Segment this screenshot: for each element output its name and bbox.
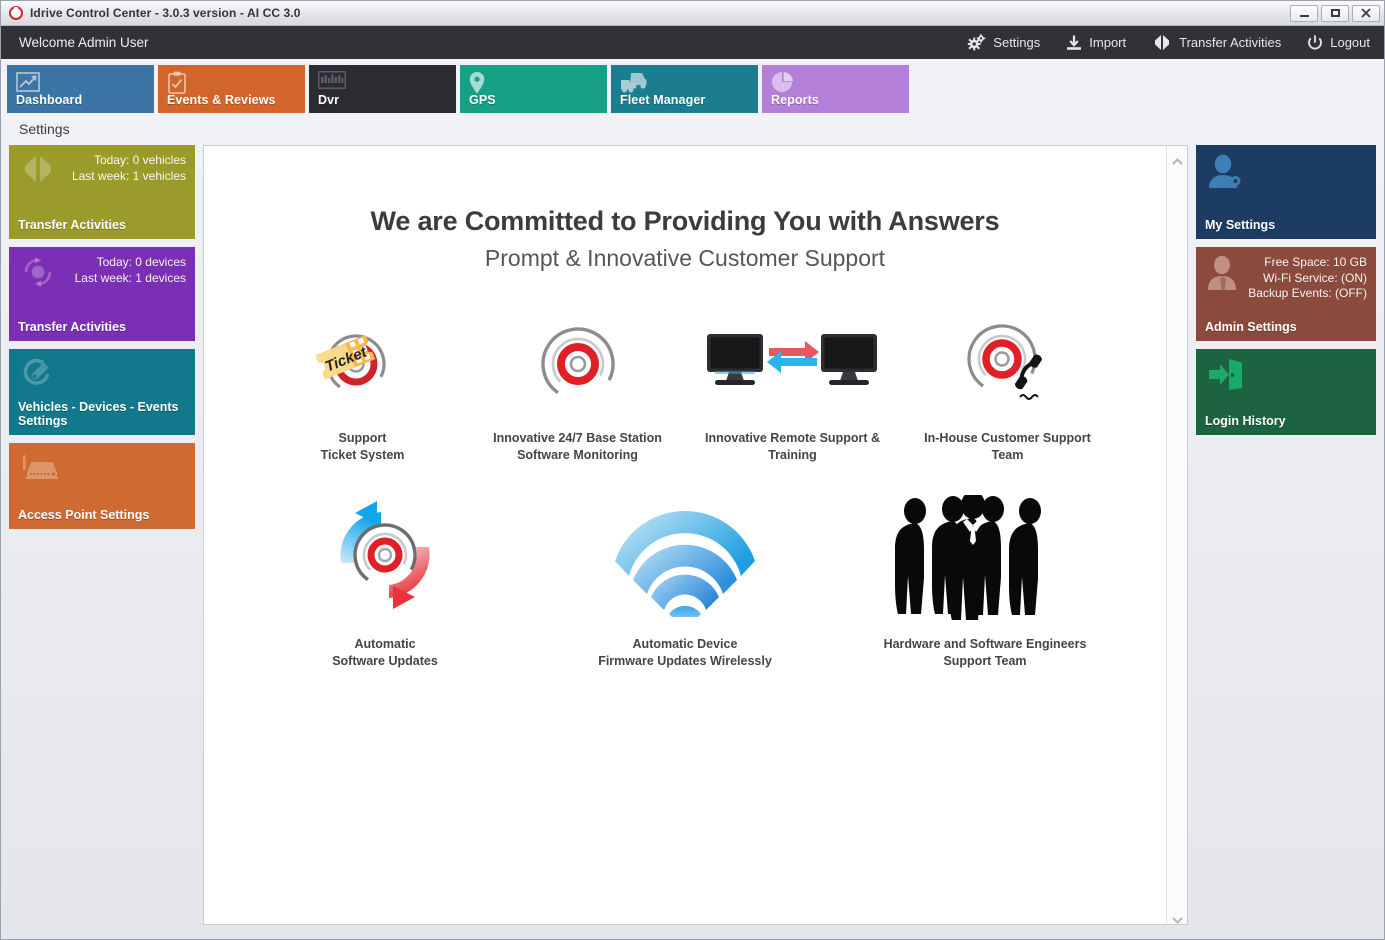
gears-icon [967,34,986,51]
tile-admin-settings[interactable]: Free Space: 10 GB Wi-Fi Service: (ON) Ba… [1196,247,1376,341]
power-icon [1307,35,1323,51]
tile-label: My Settings [1205,218,1370,232]
device-sync-icon [19,255,57,294]
feature-label: Support Ticket System [321,430,405,464]
chevron-down-icon[interactable] [1172,911,1183,918]
minimize-button[interactable] [1290,5,1318,22]
tab-dashboard-label: Dashboard [16,93,82,107]
features-row-1: Ticket Support Ticket System [204,312,1166,464]
vertical-scrollbar[interactable] [1166,146,1187,924]
feature-label: In-House Customer Support Team [924,430,1091,464]
phone-support-icon [958,312,1058,416]
remote-support-monitors-icon [703,312,883,416]
tab-events-reviews[interactable]: Events & Reviews [158,65,305,113]
import-action-label: Import [1089,35,1126,50]
tab-gps-label: GPS [469,93,496,107]
body: Today: 0 vehicles Last week: 1 vehicles … [1,145,1384,939]
tile-login-history[interactable]: Login History [1196,349,1376,435]
tab-reports[interactable]: Reports [762,65,909,113]
dvr-icon [318,76,346,93]
transfer-arrows-icon [19,153,57,190]
tile-label: Transfer Activities [18,320,189,334]
tile-label: Admin Settings [1205,320,1370,334]
tab-fleet-manager[interactable]: Fleet Manager [611,65,758,113]
app-logo-icon [9,6,23,20]
content-panel: We are Committed to Providing You with A… [203,145,1188,925]
logout-action[interactable]: Logout [1307,35,1370,51]
window-title: Idrive Control Center - 3.0.3 version - … [30,6,301,20]
content-area: We are Committed to Providing You with A… [204,146,1166,924]
title-bar: Idrive Control Center - 3.0.3 version - … [1,1,1384,26]
page-headline: We are Committed to Providing You with A… [204,206,1166,237]
support-ticket-icon: Ticket [310,312,415,416]
transfer-icon [1152,34,1172,51]
close-button[interactable] [1352,5,1380,22]
feature-automatic-software-updates: Automatic Software Updates [235,492,535,670]
tile-access-point-settings[interactable]: Access Point Settings [9,443,195,529]
features-row-2: Automatic Software Updates [204,492,1166,670]
feature-label: Innovative 24/7 Base Station Software Mo… [493,430,662,464]
breadcrumb: Settings [1,113,1384,145]
tile-label: Access Point Settings [18,508,189,522]
transfer-activities-action-label: Transfer Activities [1179,35,1281,50]
feature-support-ticket-system: Ticket Support Ticket System [255,312,470,464]
right-sidebar: My Settings Free Space: 10 GB Wi-Fi Serv… [1196,145,1376,925]
welcome-text: Welcome Admin User [19,35,149,50]
tab-fleet-manager-label: Fleet Manager [620,93,705,107]
feature-base-station-monitoring: Innovative 24/7 Base Station Software Mo… [470,312,685,464]
tile-transfer-activities-devices[interactable]: Today: 0 devices Last week: 1 devices Tr… [9,247,195,341]
chevron-up-icon[interactable] [1172,152,1183,159]
feature-label: Automatic Device Firmware Updates Wirele… [598,636,772,670]
main-tabs: Dashboard Events & Reviews [1,59,1384,113]
feature-inhouse-customer-support: In-House Customer Support Team [900,312,1115,464]
tab-dvr[interactable]: Dvr [309,65,456,113]
tab-events-reviews-label: Events & Reviews [167,93,276,107]
base-station-monitor-icon [532,312,624,416]
import-action[interactable]: Import [1066,35,1126,51]
wrench-icon [19,357,57,396]
maximize-button[interactable] [1321,5,1349,22]
wifi-signal-icon [605,492,765,622]
login-door-icon [1206,357,1246,396]
feature-label: Innovative Remote Support & Training [705,430,880,464]
settings-action[interactable]: Settings [967,34,1040,51]
router-icon [19,451,63,490]
left-sidebar: Today: 0 vehicles Last week: 1 vehicles … [9,145,195,925]
tab-dvr-label: Dvr [318,93,339,107]
tile-my-settings[interactable]: My Settings [1196,145,1376,239]
team-silhouette-icon [885,492,1085,622]
tab-dashboard[interactable]: Dashboard [7,65,154,113]
features-grid: Ticket Support Ticket System [204,312,1166,670]
app-window: Idrive Control Center - 3.0.3 version - … [0,0,1385,940]
tile-label: Vehicles - Devices - Events Settings [18,400,189,428]
feature-label: Automatic Software Updates [332,636,438,670]
feature-engineers-support-team: Hardware and Software Engineers Support … [835,492,1135,670]
software-update-icon [295,492,475,622]
feature-label: Hardware and Software Engineers Support … [884,636,1087,670]
tab-gps[interactable]: GPS [460,65,607,113]
window-controls [1290,5,1380,22]
top-actions: Settings Import Transf [967,34,1370,51]
transfer-activities-action[interactable]: Transfer Activities [1152,34,1281,51]
breadcrumb-label: Settings [19,121,70,137]
tile-label: Login History [1205,414,1370,428]
admin-user-icon [1206,255,1244,296]
logout-action-label: Logout [1330,35,1370,50]
tile-transfer-activities-vehicles[interactable]: Today: 0 vehicles Last week: 1 vehicles … [9,145,195,239]
tile-label: Transfer Activities [18,218,189,232]
page-subheadline: Prompt & Innovative Customer Support [204,245,1166,272]
feature-remote-support-training: Innovative Remote Support & Training [685,312,900,464]
settings-action-label: Settings [993,35,1040,50]
feature-device-firmware-updates: Automatic Device Firmware Updates Wirele… [535,492,835,670]
tile-vehicles-devices-events-settings[interactable]: Vehicles - Devices - Events Settings [9,349,195,435]
tab-reports-label: Reports [771,93,819,107]
user-settings-icon [1206,153,1246,194]
top-bar: Welcome Admin User [1,26,1384,59]
download-icon [1066,35,1082,51]
